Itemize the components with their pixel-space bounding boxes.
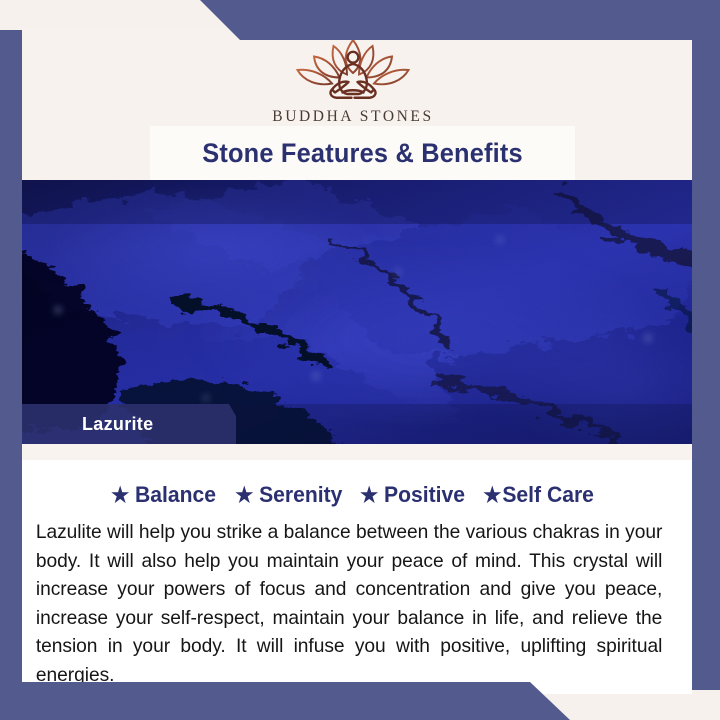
star-icon: ★ xyxy=(112,485,130,506)
infographic-canvas: BUDDHA STONES xyxy=(0,0,720,720)
title-banner: Stone Features & Benefits xyxy=(150,126,575,180)
stone-name-banner: Lazurite xyxy=(14,404,236,444)
star-icon: ★ xyxy=(484,485,502,506)
star-icon: ★ xyxy=(235,485,253,506)
stone-name-label: Lazurite xyxy=(82,414,153,435)
benefit-item: ★ Serenity xyxy=(235,482,342,508)
brand-name: BUDDHA STONES xyxy=(272,108,433,126)
stone-description: Lazulite will help you strike a balance … xyxy=(26,518,670,689)
benefit-item: ★ Balance xyxy=(112,482,217,508)
benefit-label: Positive xyxy=(384,482,465,508)
lotus-meditation-icon xyxy=(278,34,428,106)
brand-header: BUDDHA STONES xyxy=(14,28,692,138)
benefit-label: Serenity xyxy=(259,482,342,508)
benefit-item: ★ Self Care xyxy=(484,482,595,508)
star-icon: ★ xyxy=(360,485,378,506)
section-divider xyxy=(14,444,692,460)
benefit-label: Self Care xyxy=(503,482,595,508)
benefit-item: ★ Positive xyxy=(360,482,465,508)
frame-left-accent xyxy=(0,30,22,720)
page-title: Stone Features & Benefits xyxy=(202,138,523,169)
benefits-row: ★ Balance ★ Serenity ★ Positive ★ Self C… xyxy=(26,482,680,508)
frame-right-accent xyxy=(692,0,720,720)
benefit-label: Balance xyxy=(135,482,216,508)
page-surface: BUDDHA STONES xyxy=(14,28,692,694)
content-panel: ★ Balance ★ Serenity ★ Positive ★ Self C… xyxy=(14,460,692,694)
stone-photo: Lazurite xyxy=(14,180,692,444)
